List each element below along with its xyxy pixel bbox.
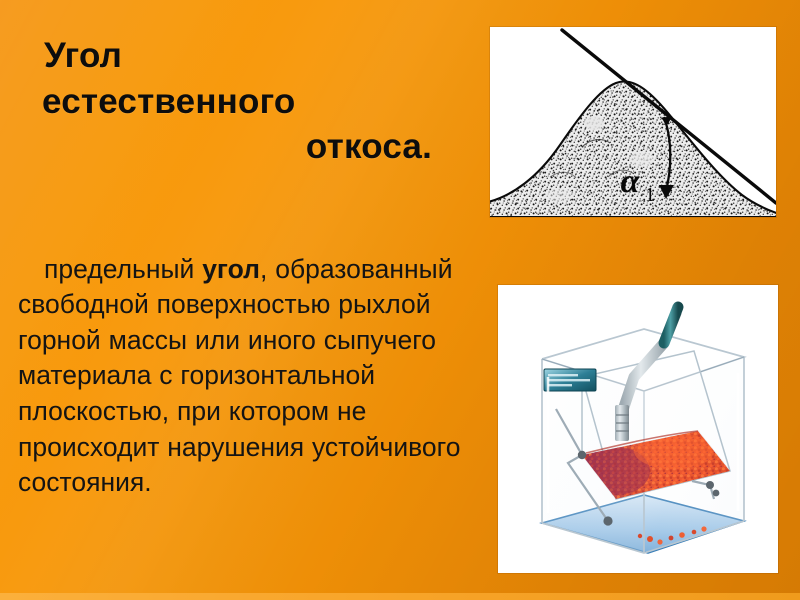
angle-of-repose-apparatus-photo: [498, 285, 778, 573]
slide: Угол естественного откоса. предельный уг…: [0, 0, 800, 600]
title-line-1: Угол: [18, 33, 468, 79]
title-line-2: естественного: [18, 79, 468, 125]
text-column: Угол естественного откоса. предельный уг…: [0, 0, 492, 600]
angle-of-repose-diagram: α 1: [490, 27, 776, 217]
page-title: Угол естественного откоса.: [18, 33, 468, 170]
body-lead-text: предельный: [44, 254, 202, 284]
apparatus-svg: [498, 285, 778, 573]
body-rest-text: , образованный свободной поверхностью ры…: [18, 254, 461, 498]
angle-label-alpha: α: [621, 163, 641, 200]
title-line-3: откоса.: [18, 124, 468, 170]
instrument-label: [544, 369, 596, 391]
diagram-svg: α 1: [490, 27, 776, 217]
angle-label-subscript: 1: [645, 184, 655, 206]
body-paragraph: предельный угол, образованный свободной …: [18, 252, 484, 501]
body-bold-term: угол: [202, 254, 260, 284]
